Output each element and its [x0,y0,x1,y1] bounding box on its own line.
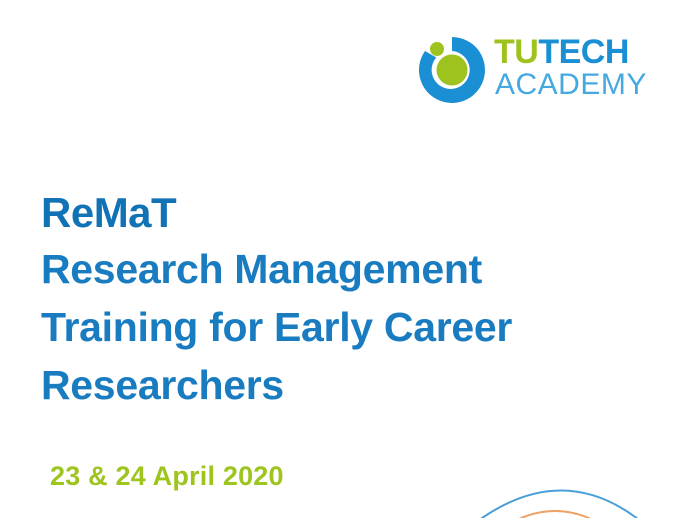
tutech-academy-logo: TUTECH ACADEMY [412,26,642,112]
wordmark-tech: TECH [538,33,629,71]
subtitle-line-2: Training for Early Career [41,298,641,356]
wordmark-line-tutech: TUTECH [494,34,629,70]
blue-arc [475,491,643,518]
presentation-slide: TUTECH ACADEMY ReMaT Research Management… [0,0,690,518]
page-title-acronym: ReMaT [41,190,641,236]
wordmark-tu: TU [494,33,538,71]
tutech-wordmark: TUTECH ACADEMY [494,34,642,108]
subtitle-line-1: Research Management [41,240,641,298]
tutech-ring-icon [412,30,492,110]
event-date: 23 & 24 April 2020 [50,461,284,492]
headline-block: ReMaT Research Management Training for E… [41,190,641,414]
decorative-arcs [455,445,690,518]
orange-arc [495,511,615,518]
subtitle-line-3: Researchers [41,356,641,414]
inner-circle-shape [437,55,468,86]
wordmark-academy: ACADEMY [495,69,647,101]
accent-dot-shape [430,42,444,56]
